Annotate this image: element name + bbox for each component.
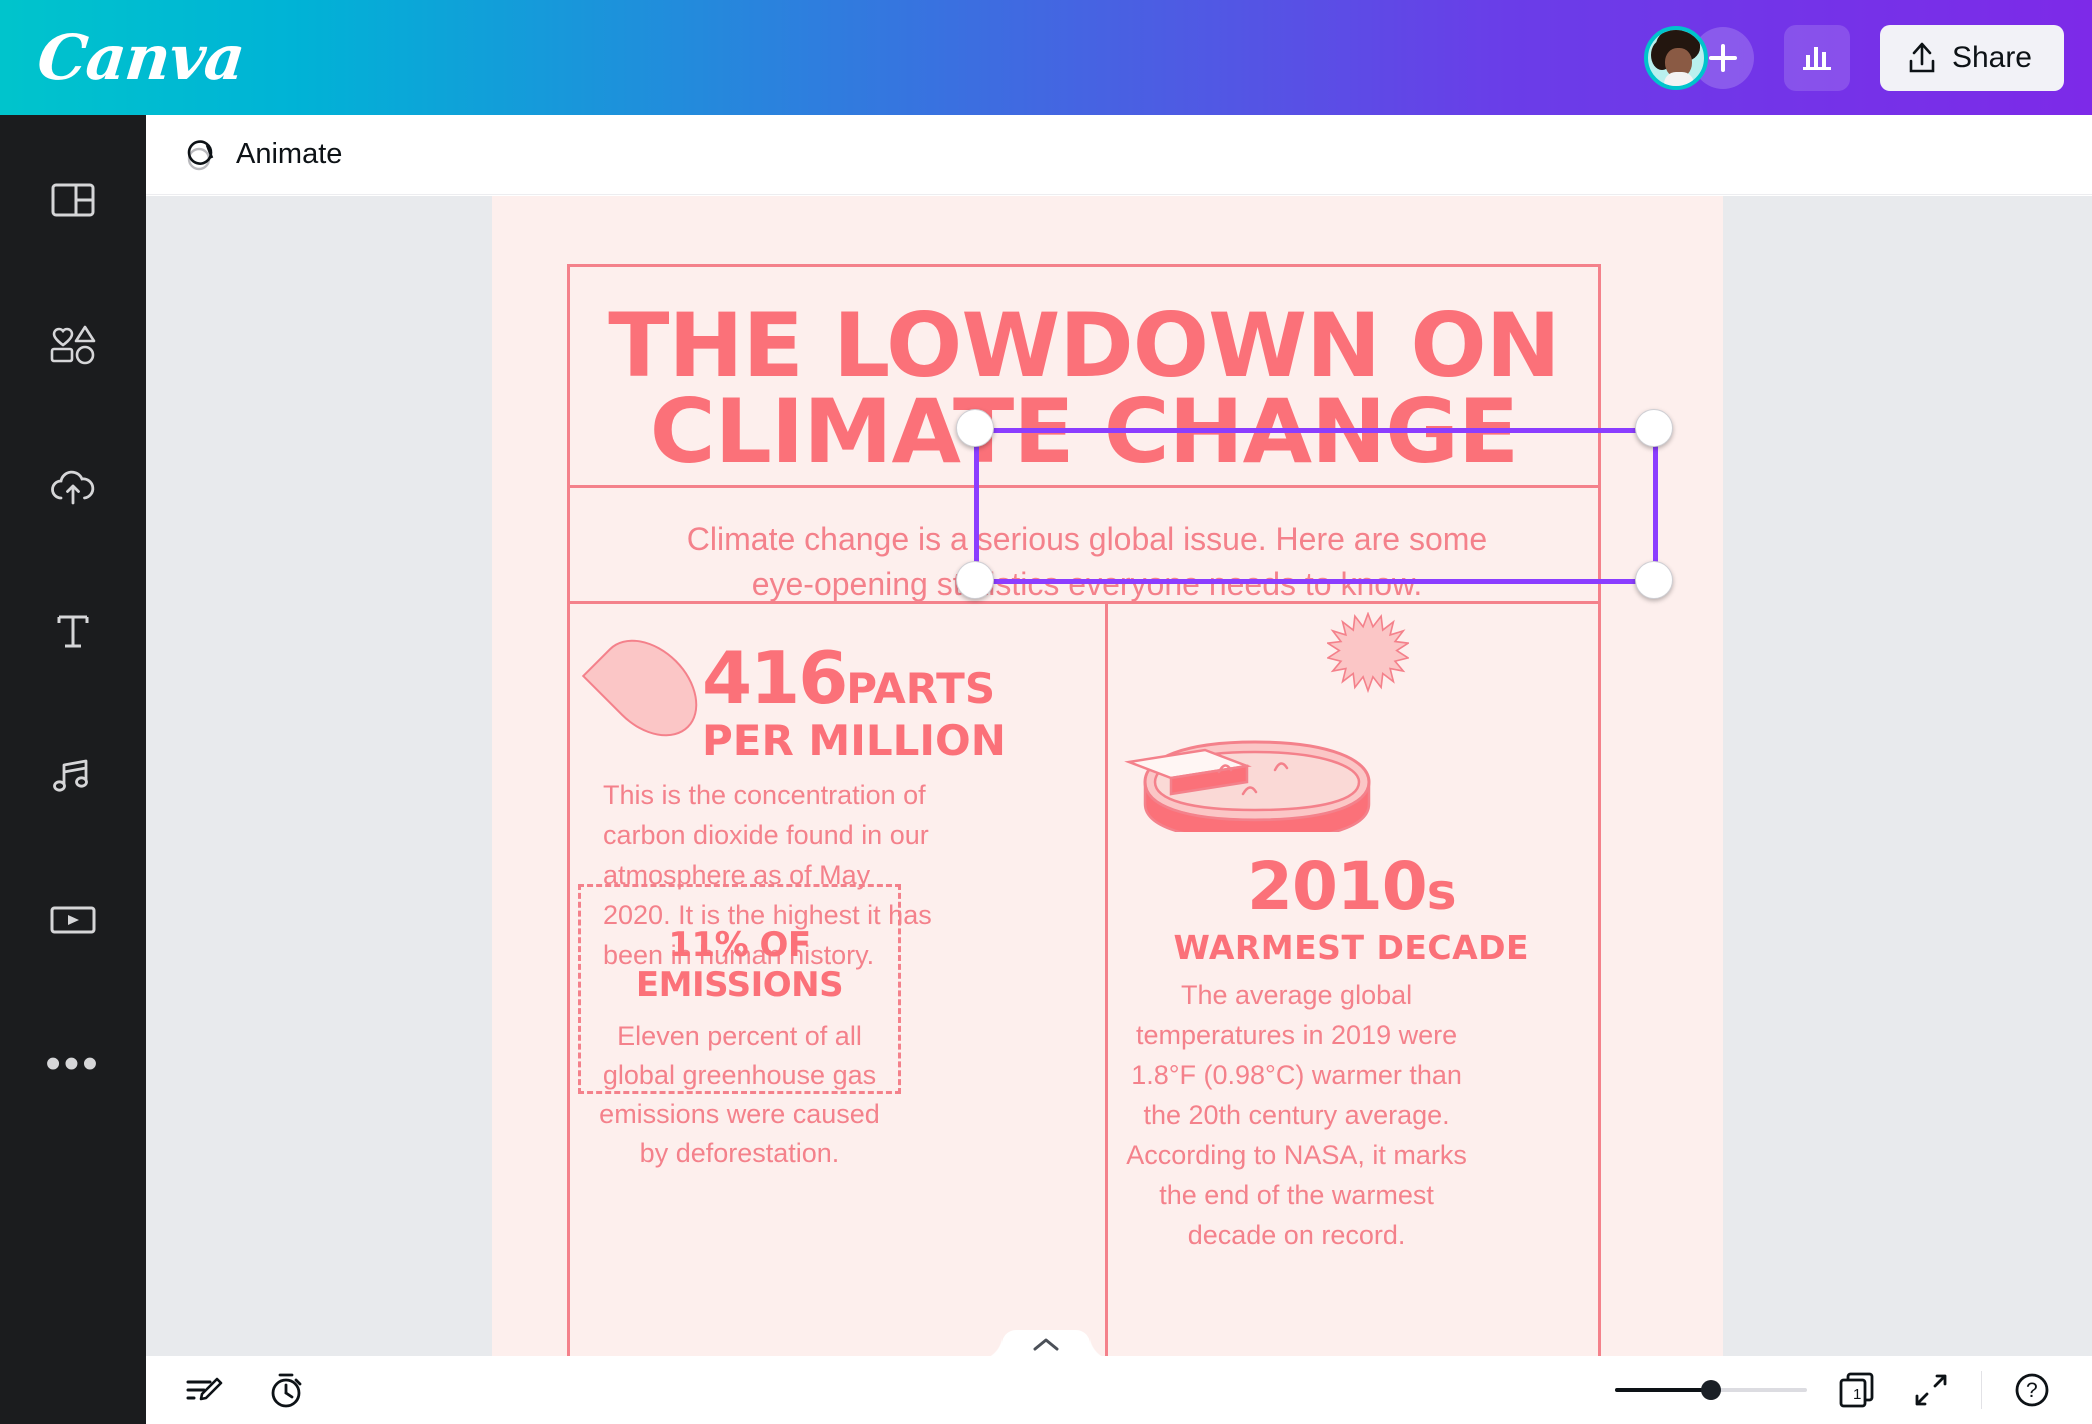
user-avatar[interactable]	[1644, 26, 1708, 90]
stat-416-block[interactable]: 416PARTS PER MILLION	[702, 642, 1082, 762]
bar-chart-icon	[1800, 39, 1834, 73]
sidebar-item-videos[interactable]	[30, 877, 116, 963]
stat-416-unit-line1: PARTS	[846, 664, 995, 713]
resize-handle-bottom-left[interactable]	[956, 561, 994, 599]
sidebar-item-uploads[interactable]	[30, 445, 116, 531]
design-canvas[interactable]: THE LOWDOWN ON CLIMATE CHANGE Climate ch…	[492, 196, 1723, 1356]
divider-title-bottom	[570, 485, 1598, 488]
editor-workspace[interactable]: THE LOWDOWN ON CLIMATE CHANGE Climate ch…	[146, 196, 2092, 1356]
help-question-icon: ?	[2011, 1369, 2053, 1411]
left-tool-rail: •••	[0, 115, 146, 1424]
expand-icon	[1911, 1370, 1951, 1410]
cloud-upload-icon	[48, 467, 98, 509]
timer-icon	[267, 1370, 305, 1410]
water-drop-icon	[582, 621, 716, 755]
notes-button[interactable]	[180, 1366, 228, 1414]
sun-burst-icon	[1327, 612, 1409, 694]
resize-handle-top-right[interactable]	[1635, 409, 1673, 447]
toolbar-divider	[1981, 1371, 1982, 1409]
header-actions: Share	[1644, 25, 2064, 91]
upload-icon	[1906, 41, 1938, 75]
collaborators-group	[1644, 26, 1754, 90]
stat-2010s-number: 2010	[1247, 848, 1427, 925]
svg-text:?: ?	[2026, 1379, 2038, 1402]
resize-handle-bottom-right[interactable]	[1635, 561, 1673, 599]
emissions-headline: 11% OF EMISSIONS	[581, 925, 898, 1005]
infographic-subtitle[interactable]: Climate change is a serious global issue…	[680, 517, 1494, 608]
fullscreen-button[interactable]	[1907, 1366, 1955, 1414]
avatar-shoulders	[1664, 72, 1694, 90]
left-column: 416PARTS PER MILLION This is the concent…	[570, 604, 1105, 1356]
ellipsis-icon: •••	[45, 1055, 100, 1073]
collapse-panel-tab[interactable]	[1002, 1330, 1090, 1360]
music-note-icon	[50, 755, 96, 797]
sidebar-item-more[interactable]: •••	[30, 1021, 116, 1107]
top-header-bar: Canva	[0, 0, 2092, 115]
animate-circles-icon	[184, 136, 222, 174]
infographic-title[interactable]: THE LOWDOWN ON CLIMATE CHANGE	[560, 303, 1609, 475]
zoom-slider-fill	[1615, 1388, 1711, 1392]
zoom-slider[interactable]	[1615, 1380, 1807, 1400]
emissions-body: Eleven percent of all global greenhouse …	[581, 1017, 898, 1174]
bottom-left-actions	[180, 1366, 310, 1414]
sunbed-illustration	[1115, 720, 1405, 832]
sidebar-item-elements[interactable]	[30, 301, 116, 387]
canva-logo[interactable]: Canva	[35, 27, 247, 89]
infographic-frame: THE LOWDOWN ON CLIMATE CHANGE Climate ch…	[567, 264, 1601, 1356]
layout-panel-icon	[50, 179, 96, 221]
page-manager-icon: 1	[1836, 1369, 1878, 1411]
warmest-decade-label: WARMEST DECADE	[1105, 928, 1598, 967]
zoom-slider-knob[interactable]	[1701, 1380, 1721, 1400]
right-column-body[interactable]: The average global temperatures in 2019 …	[1123, 976, 1471, 1256]
resize-handle-top-left[interactable]	[956, 409, 994, 447]
plus-icon-vertical	[1721, 44, 1725, 72]
stat-416-number: 416	[702, 636, 846, 720]
stat-416-unit-line2: PER MILLION	[702, 720, 1082, 762]
animate-button-label: Animate	[236, 138, 342, 171]
text-t-icon	[52, 610, 94, 654]
timer-button[interactable]	[262, 1366, 310, 1414]
emissions-callout[interactable]: 11% OF EMISSIONS Eleven percent of all g…	[578, 884, 901, 1094]
shapes-icon	[48, 322, 98, 366]
insights-button[interactable]	[1784, 25, 1850, 91]
context-toolbar: Animate	[146, 115, 2092, 195]
bottom-right-actions: 1 ?	[1615, 1366, 2056, 1414]
notes-edit-icon	[184, 1372, 224, 1408]
help-button[interactable]: ?	[2008, 1366, 2056, 1414]
animate-button[interactable]: Animate	[170, 128, 356, 182]
page-manager-button[interactable]: 1	[1833, 1366, 1881, 1414]
bottom-toolbar: 1 ?	[146, 1356, 2092, 1424]
share-button-label: Share	[1952, 41, 2032, 75]
stat-2010s-suffix: s	[1427, 863, 1456, 921]
chevron-up-icon	[1031, 1336, 1061, 1354]
video-play-icon	[48, 902, 98, 938]
sidebar-item-text[interactable]	[30, 589, 116, 675]
share-button[interactable]: Share	[1880, 25, 2064, 91]
page-number-text: 1	[1853, 1386, 1861, 1403]
sidebar-item-design[interactable]	[30, 157, 116, 243]
stat-2010s-block[interactable]: 2010s	[1105, 854, 1598, 920]
right-column: 2010s WARMEST DECADE The average global …	[1105, 604, 1598, 1356]
sidebar-item-audio[interactable]	[30, 733, 116, 819]
